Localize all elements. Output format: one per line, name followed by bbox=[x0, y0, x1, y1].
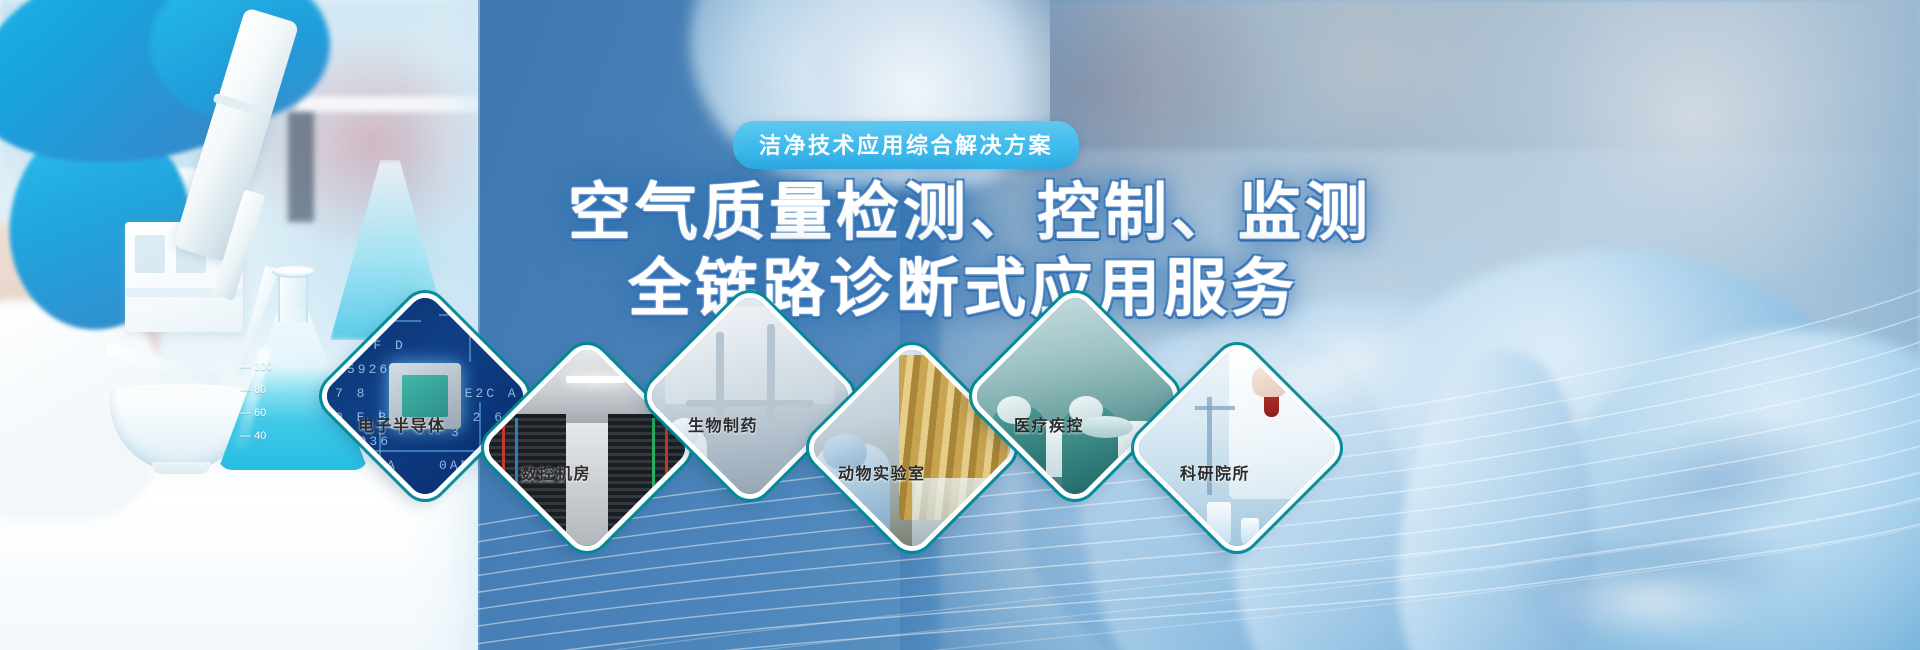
card-art-semiconductor: E2 F D 5926 7 8 0 E B 3 7 936 B8 C A 1 E… bbox=[320, 291, 529, 500]
card-art-biopharma bbox=[645, 291, 854, 500]
card-label-medical-disease-control: 医疗疾控 bbox=[1014, 412, 1084, 436]
card-label-research-institute: 科研院所 bbox=[1180, 460, 1250, 484]
card-art-server-room bbox=[482, 343, 691, 552]
card-label-electronic-semiconductor: 电子半导体 bbox=[358, 412, 446, 436]
industry-card-row: E2 F D 5926 7 8 0 E B 3 7 936 B8 C A 1 E… bbox=[0, 0, 1920, 650]
card-medical-disease-control[interactable] bbox=[970, 291, 1179, 500]
card-art-animal-lab bbox=[807, 343, 1016, 552]
hero-banner: 100 80 60 40 洁净技术应用综合解决方案 空气质量检测、控制、监测 全… bbox=[0, 0, 1920, 650]
card-art-medical bbox=[970, 291, 1179, 500]
card-art-research bbox=[1132, 343, 1341, 552]
card-label-animal-laboratory: 动物实验室 bbox=[838, 460, 926, 484]
card-biopharmaceutical[interactable] bbox=[645, 291, 854, 500]
card-label-biopharmaceutical: 生物制药 bbox=[688, 412, 758, 436]
card-numerical-control-room[interactable] bbox=[482, 343, 691, 552]
card-label-numerical-control-room: 数控机房 bbox=[521, 460, 591, 484]
card-electronic-semiconductor[interactable]: E2 F D 5926 7 8 0 E B 3 7 936 B8 C A 1 E… bbox=[320, 291, 529, 500]
card-research-institute[interactable] bbox=[1132, 343, 1341, 552]
card-animal-laboratory[interactable] bbox=[807, 343, 1016, 552]
